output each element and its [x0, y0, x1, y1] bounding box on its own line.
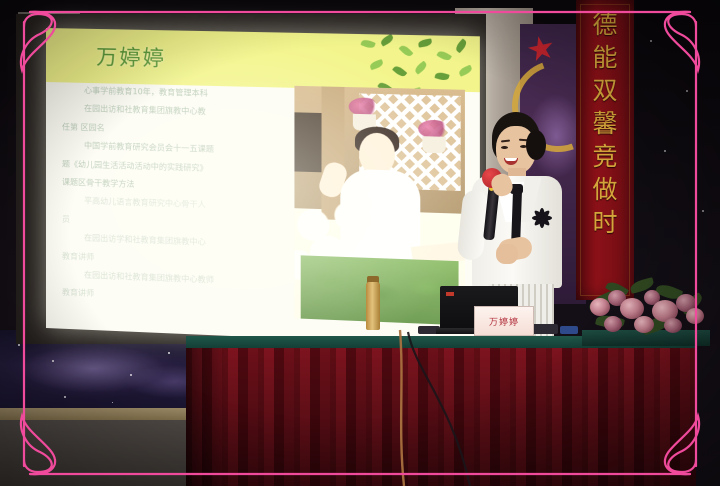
banner-char: 双: [592, 78, 617, 103]
list-item: 题《幼儿园生活活动活动中的实践研究》: [62, 160, 286, 175]
list-item: 任第 区园名: [62, 123, 286, 138]
red-vertical-banner: 德 能 双 馨 竞 做 时: [576, 0, 634, 300]
banner-char: 竞: [592, 144, 617, 169]
list-item: 教育讲师: [62, 252, 286, 269]
list-item: 平高幼儿语言教育研究中心骨干人: [84, 198, 286, 213]
table-shadow: [186, 348, 226, 486]
projected-slide: 万婷婷 心事学前教育10年，教育管理本科 在园出访和社教育集团旗教中心教 任第 …: [46, 28, 480, 347]
list-item: 在园出访学和社教育集团旗教中心: [84, 234, 286, 250]
banner-char: 做: [592, 177, 617, 202]
right-wall: [636, 0, 720, 300]
banner-char: 时: [592, 210, 617, 235]
table-clutter: [530, 324, 558, 334]
list-item: 在园出访和社教育集团旗教中心教师: [84, 271, 286, 287]
nameplate: 万婷婷: [474, 306, 534, 336]
screenshot-root: 万婷婷 心事学前教育10年，教育管理本科 在园出访和社教育集团旗教中心教 任第 …: [0, 0, 720, 486]
list-item: 教育讲师: [62, 289, 286, 307]
list-item: 员: [62, 215, 286, 231]
list-item: 课题区骨干教学方法: [62, 178, 286, 194]
banner-char: 德: [592, 12, 617, 37]
banner-characters: 德 能 双 馨 竞 做 时: [576, 12, 634, 235]
slide-bullet-list: 心事学前教育10年，教育管理本科 在园出访和社教育集团旗教中心教 任第 区园名 …: [62, 86, 286, 316]
list-item: 中国学前教育研究会员会十一五课题: [84, 142, 286, 156]
flower-arrangement: [586, 276, 710, 338]
list-item: 心事学前教育10年，教育管理本科: [84, 87, 286, 100]
banner-char: 馨: [592, 111, 617, 136]
table-clutter: [560, 326, 578, 334]
thinkpad-logo-icon: [446, 292, 454, 296]
flower-brooch-icon: [532, 208, 552, 228]
slide-title: 万婷婷: [96, 41, 166, 73]
nameplate-text: 万婷婷: [489, 315, 519, 328]
list-item: 在园出访和社教育集团旗教中心教: [84, 105, 286, 119]
table-skirt: [186, 348, 696, 486]
thermos-bottle: [366, 282, 380, 330]
banner-char: 能: [592, 45, 617, 70]
